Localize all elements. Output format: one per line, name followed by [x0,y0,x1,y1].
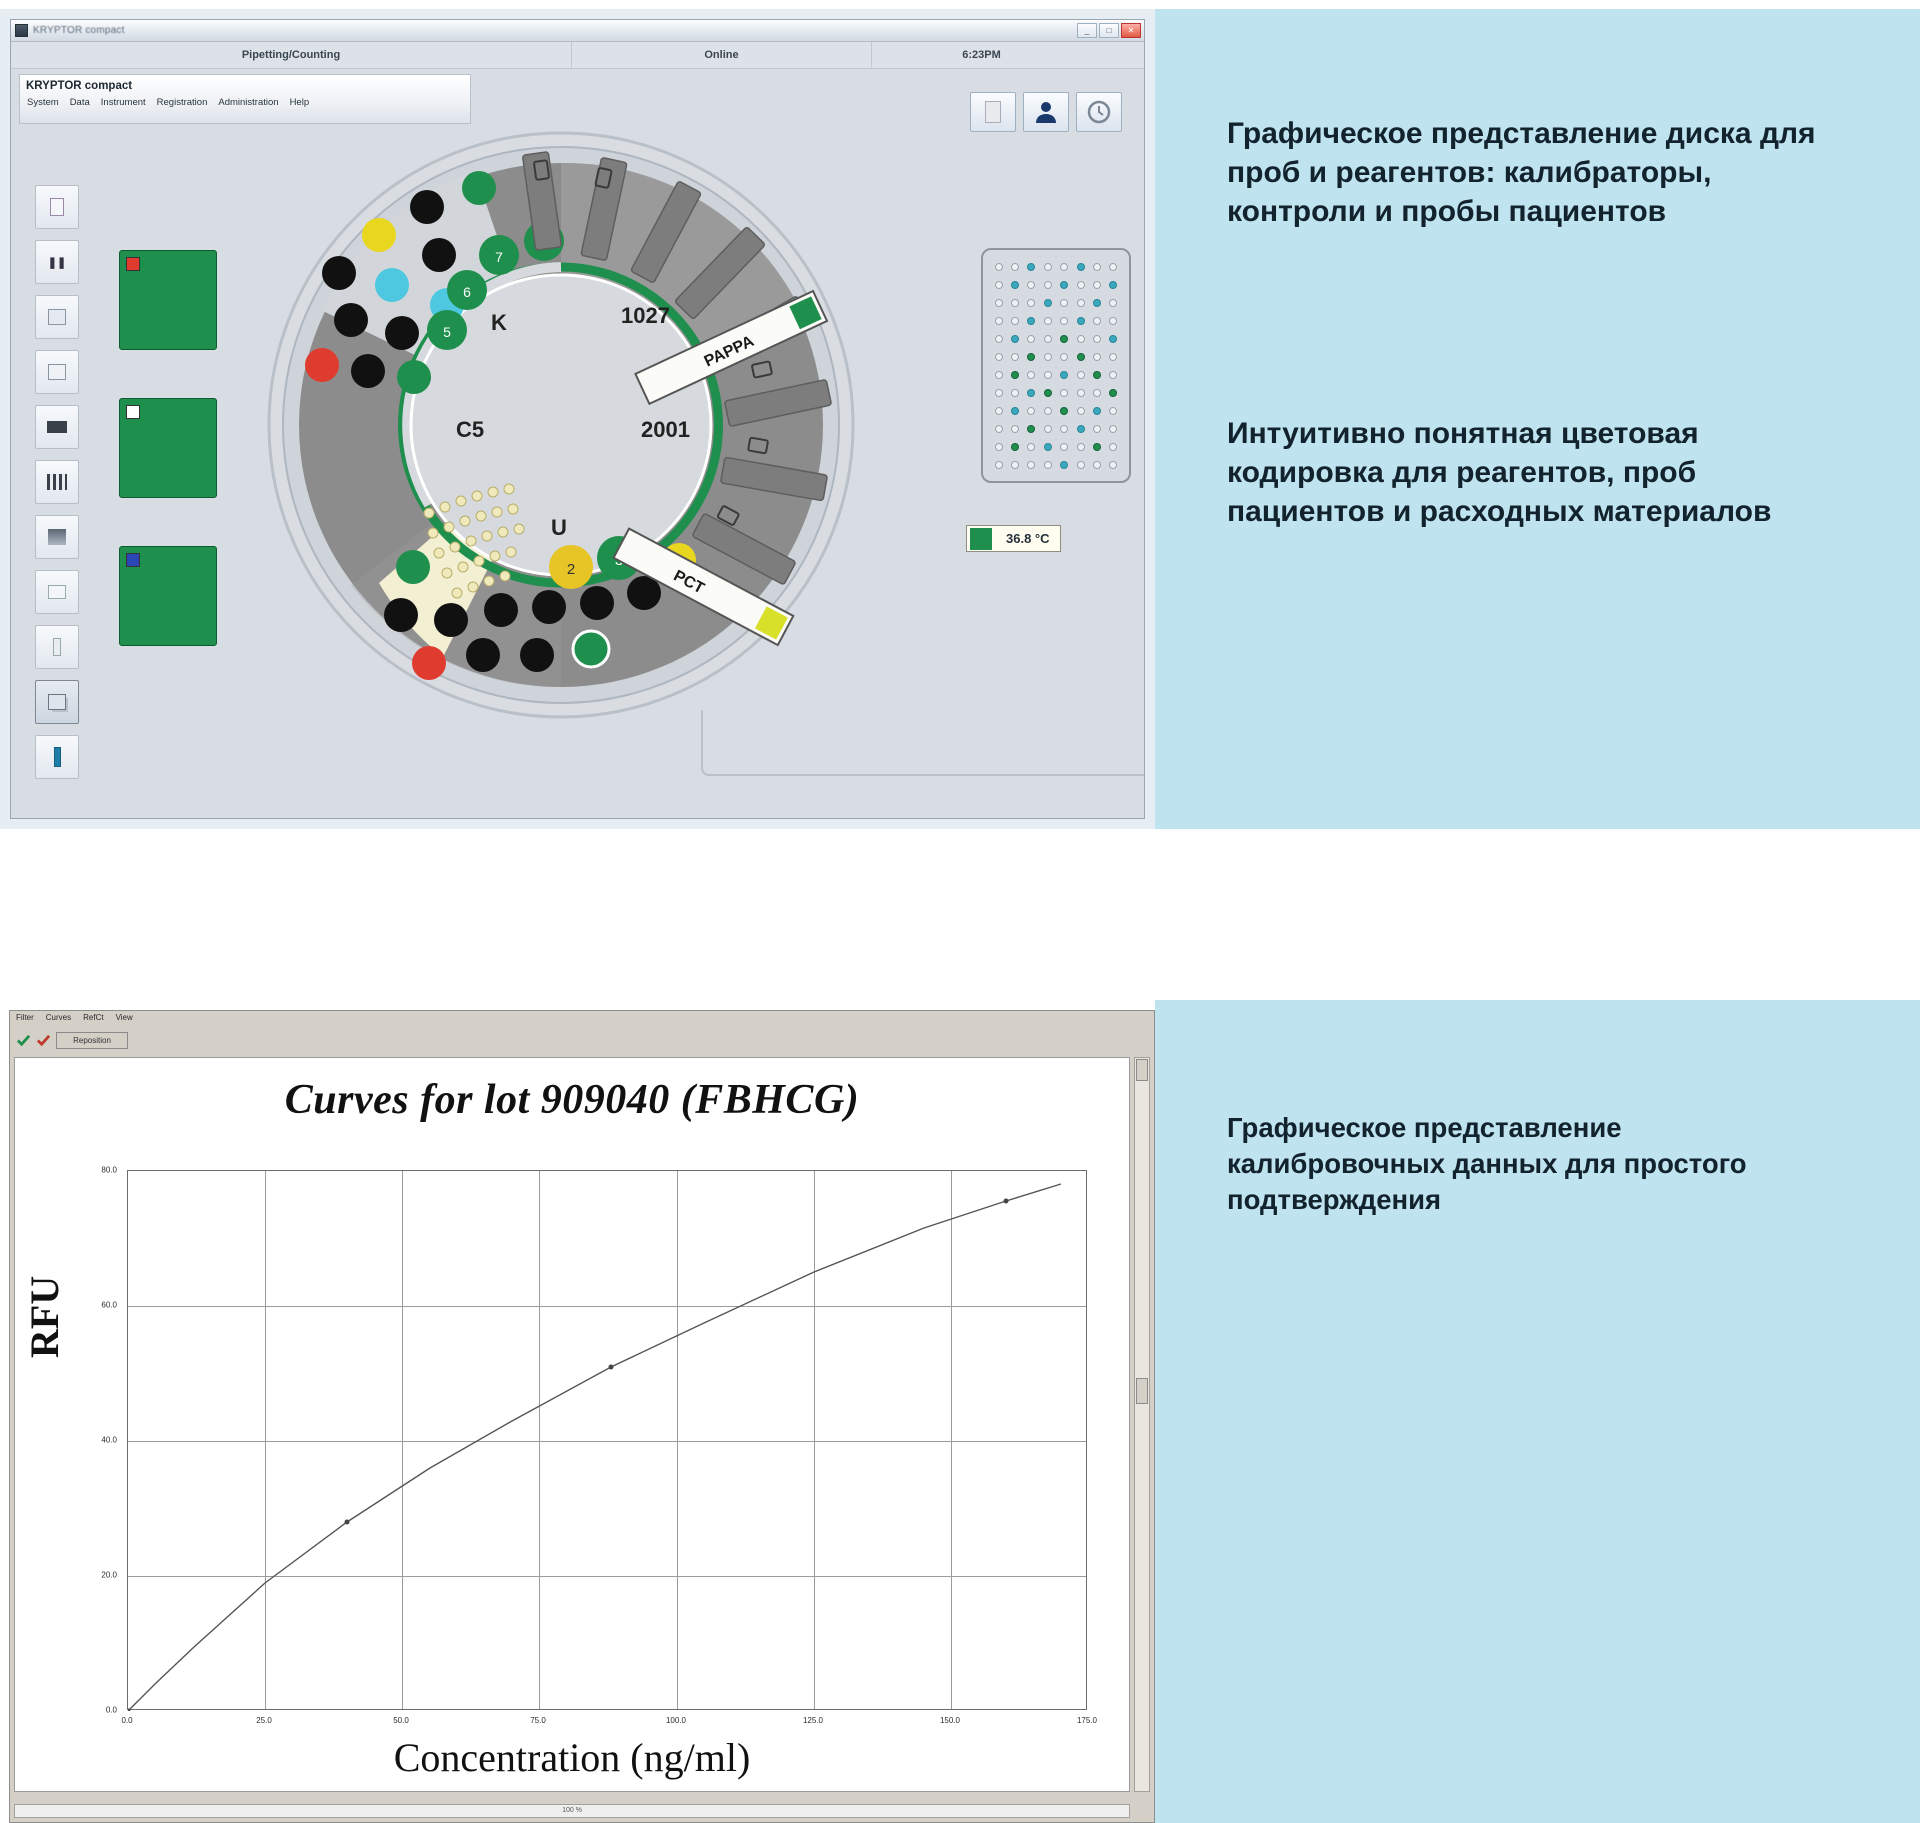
plate-well [1011,461,1019,469]
plate-well [1093,443,1101,451]
plate-well [995,281,1003,289]
caption-column-top: Графическое представление диска для проб… [1155,9,1920,829]
rail-button-reagent[interactable] [35,350,79,394]
menu-item-filter[interactable]: Filter [16,1013,34,1027]
plate-well [1027,371,1035,379]
menu-item-data[interactable]: Data [70,97,90,108]
microplate-rack[interactable] [981,248,1131,483]
menu-item-view[interactable]: View [116,1013,133,1027]
plate-well [1044,281,1052,289]
sample-well[interactable] [385,316,419,350]
rail-button-card[interactable] [35,570,79,614]
plate-well [1011,353,1019,361]
rack-icon [47,474,67,490]
plate-well [1011,407,1019,415]
plate-well [1093,263,1101,271]
caption-calibration-data: Графическое представление калибровочных … [1227,1110,1817,1217]
sample-well[interactable] [520,638,554,672]
menu-item-registration[interactable]: Registration [157,97,208,108]
plate-well [1093,281,1101,289]
rail-button-tube[interactable] [35,735,79,779]
plate-well [1060,299,1068,307]
status-indicator-white [126,405,140,419]
sample-well[interactable] [362,218,396,252]
xtick-7: 175.0 [1077,1716,1097,1725]
plate-well [1027,317,1035,325]
plate-well [1011,317,1019,325]
plate-well [995,335,1003,343]
minimize-button[interactable]: _ [1077,23,1097,38]
disc-label-1027: 1027 [621,303,670,328]
plate-well [1044,461,1052,469]
sample-well[interactable] [410,190,444,224]
check-red-icon[interactable] [36,1033,51,1048]
rail-button-document[interactable] [35,185,79,229]
plate-well [1109,443,1117,451]
ytick-1: 20.0 [81,1571,117,1580]
plate-well [1044,443,1052,451]
plate-well [1060,317,1068,325]
status-block-2[interactable] [119,398,217,498]
plot-area [127,1170,1087,1710]
plate-well [1109,407,1117,415]
plate-well [1044,263,1052,271]
maximize-button[interactable]: □ [1099,23,1119,38]
sample-reagent-disc[interactable]: K 1027 C5 2001 U [261,115,881,775]
plate-well [1093,299,1101,307]
horizontal-scrollbar[interactable]: 100 % [14,1804,1130,1818]
top-panel: KRYPTOR compact _ □ ✕ Pipetting/Counting… [0,9,1920,829]
plate-well [1077,407,1085,415]
cuvette-icon [48,529,66,545]
curves-window: Filter Curves RefCt View Reposition Curv… [9,1010,1155,1823]
sample-well[interactable] [305,348,339,382]
chart-title: Curves for lot 909040 (FBHCG) [15,1076,1129,1124]
status-bar: Pipetting/Counting Online 6:23PM [11,42,1144,69]
sample-well[interactable] [397,360,431,394]
disc-svg[interactable]: K 1027 C5 2001 U [261,115,881,775]
status-block-3[interactable] [119,546,217,646]
plate-well [995,461,1003,469]
clock-icon [1086,99,1112,125]
curves-toolbar[interactable]: Reposition [10,1027,1154,1053]
tip-icon [53,638,61,656]
plate-well [995,407,1003,415]
plate-well [1044,389,1052,397]
plate-well [1093,407,1101,415]
sample-well-active[interactable] [573,631,609,667]
plate-well [1011,281,1019,289]
sample-well[interactable] [351,354,385,388]
plate-well [1060,407,1068,415]
xtick-5: 125.0 [803,1716,823,1725]
sample-well[interactable] [466,638,500,672]
plate-well [1093,389,1101,397]
menu-item-refct[interactable]: RefCt [83,1013,103,1027]
menu-item-system[interactable]: System [27,97,59,108]
curve-marker [609,1365,614,1370]
disc-label-2001: 2001 [641,417,690,442]
xtick-6: 150.0 [940,1716,960,1725]
reagent-icon [48,364,66,380]
plate-well [995,443,1003,451]
plate-well [1044,371,1052,379]
plate-well [1044,425,1052,433]
stop-icon [985,101,1001,123]
sample-well[interactable] [375,268,409,302]
rail-button-rack[interactable] [35,460,79,504]
plate-well [1077,281,1085,289]
disc-tray-outline [701,710,1145,776]
plate-well [1077,461,1085,469]
layers-icon [48,694,66,710]
scrollbar-thumb[interactable] [1136,1378,1148,1404]
plate-well [1077,371,1085,379]
card-icon [48,585,66,599]
plate-well [1044,335,1052,343]
plate-well [1060,425,1068,433]
ytick-2: 40.0 [81,1436,117,1445]
xtick-1: 25.0 [256,1716,272,1725]
calibration-curve [128,1171,1088,1711]
plate-well [1011,263,1019,271]
plate-well [1093,317,1101,325]
sample-well[interactable] [532,590,566,624]
top-screenshot-area: KRYPTOR compact _ □ ✕ Pipetting/Counting… [0,9,1155,829]
ytick-4: 80.0 [81,1166,117,1175]
chart-ylabel: RFU [21,1276,68,1358]
menu-item-help[interactable]: Help [290,97,310,108]
plate-well [1109,371,1117,379]
caption-column-bottom: Графическое представление калибровочных … [1155,1000,1920,1823]
curve-marker [345,1520,350,1525]
chart-xlabel: Concentration (ng/ml) [15,1734,1129,1781]
status-block-1[interactable] [119,250,217,350]
plate-well [1109,317,1117,325]
xtick-2: 50.0 [393,1716,409,1725]
window-title: KRYPTOR compact [33,25,125,36]
plate-well [1027,335,1035,343]
sample-well[interactable] [462,171,496,205]
plate-well [1093,461,1101,469]
sample-well[interactable] [580,586,614,620]
xtick-3: 75.0 [530,1716,546,1725]
zoom-level-label: 100 % [562,1807,582,1814]
menu-item-curves[interactable]: Curves [46,1013,71,1027]
close-button[interactable]: ✕ [1121,23,1141,38]
plate-well [1044,407,1052,415]
plate-well [1060,281,1068,289]
plate-well [1093,353,1101,361]
caption-color-coding: Интуитивно понятная цветовая кодировка д… [1227,414,1847,531]
plate-well [995,389,1003,397]
rail-button-printer[interactable] [35,405,79,449]
document-icon [50,198,64,216]
xtick-4: 100.0 [666,1716,686,1725]
temperature-value: 36.8 °C [1006,531,1050,546]
sample-well[interactable] [322,256,356,290]
plate-well [1044,353,1052,361]
plate-well [1077,299,1085,307]
user-button[interactable] [1023,92,1069,132]
plate-well [1011,371,1019,379]
disc-label-c5: C5 [456,417,484,442]
clock-button[interactable] [1076,92,1122,132]
plate-well [1077,425,1085,433]
app-icon [15,24,28,37]
plate-well [1077,317,1085,325]
status-indicator-blue [126,553,140,567]
plate-well [1109,263,1117,271]
sample-well[interactable] [434,603,468,637]
plate-well [995,353,1003,361]
plate-well [1109,335,1117,343]
menu-item-instrument[interactable]: Instrument [101,97,146,108]
plate-well [1077,389,1085,397]
rail-button-stop[interactable]: ❚❚ [35,240,79,284]
window-titlebar: KRYPTOR compact _ □ ✕ [11,20,1144,42]
plate-well [1077,443,1085,451]
scrollbar-thumb-top[interactable] [1136,1059,1148,1081]
plate-well [1044,317,1052,325]
sample-well[interactable] [412,646,446,680]
curves-menu-bar[interactable]: Filter Curves RefCt View [10,1011,1154,1027]
plate-well [1077,353,1085,361]
plate-well [995,317,1003,325]
sample-well[interactable] [384,598,418,632]
window-controls[interactable]: _ □ ✕ [1077,23,1141,38]
numbered-well-label: 5 [443,324,451,340]
ytick-0: 0.0 [81,1706,117,1715]
plate-well [1060,263,1068,271]
plate-well [1027,461,1035,469]
plate-well [1060,335,1068,343]
status-process: Pipetting/Counting [11,42,571,68]
plate-well [1060,371,1068,379]
status-clock: 6:23PM [871,42,1091,68]
status-indicator-red [126,257,140,271]
xtick-0: 0.0 [121,1716,132,1725]
numbered-well-label: 6 [463,284,471,300]
ytick-3: 60.0 [81,1301,117,1310]
plate-well [995,263,1003,271]
menu-bar[interactable]: System Data Instrument Registration Admi… [20,92,470,108]
caption-disc-representation: Графическое представление диска для проб… [1227,114,1827,231]
plate-well [1011,299,1019,307]
disc-label-u: U [551,515,567,540]
curve-line [128,1184,1061,1711]
plate-well [1027,299,1035,307]
plate-well [1109,389,1117,397]
stop-icon: ❚❚ [48,256,66,269]
plate-well [1060,443,1068,451]
sample-icon [48,309,66,325]
numbered-well-label: 7 [495,249,503,265]
stop-button[interactable] [970,92,1016,132]
sample-well[interactable] [484,593,518,627]
plate-well [1109,281,1117,289]
curve-marker [1004,1199,1009,1204]
numbered-well-label: 2 [567,561,575,578]
plate-well [1027,281,1035,289]
plate-well [1011,443,1019,451]
plate-well [1011,335,1019,343]
kryptor-app-window: KRYPTOR compact _ □ ✕ Pipetting/Counting… [10,19,1145,819]
plate-well [1109,425,1117,433]
rail-button-sample[interactable] [35,295,79,339]
plate-well [1093,335,1101,343]
plate-well [1077,335,1085,343]
plate-well [1109,461,1117,469]
plate-well [1044,299,1052,307]
disc-label-k: K [491,310,507,335]
temperature-badge: 36.8 °C [966,525,1061,552]
header-toolbar[interactable] [970,92,1122,132]
left-toolbar[interactable]: ❚❚ [35,185,81,790]
plate-well [1027,407,1035,415]
plate-well [1027,425,1035,433]
application-title: KRYPTOR compact [20,75,470,92]
plate-well [1060,353,1068,361]
plate-well [1027,353,1035,361]
microplate-wells [991,258,1121,473]
rail-button-cuvette[interactable] [35,515,79,559]
plate-well [995,371,1003,379]
printer-icon [47,421,67,433]
menu-item-administration[interactable]: Administration [218,97,278,108]
check-green-icon[interactable] [16,1033,31,1048]
user-icon [1033,99,1059,125]
plate-well [1011,389,1019,397]
chart-canvas: Curves for lot 909040 (FBHCG) RFU [14,1057,1130,1792]
temperature-swatch [970,528,992,550]
rail-button-layers[interactable] [35,680,79,724]
plate-well [1027,389,1035,397]
tube-icon [54,747,61,767]
plate-well [1027,443,1035,451]
plate-well [1077,263,1085,271]
rail-button-tip[interactable] [35,625,79,669]
sample-well[interactable] [334,303,368,337]
plate-well [995,299,1003,307]
plate-well [1093,371,1101,379]
sample-well[interactable] [422,238,456,272]
plate-well [1027,263,1035,271]
plate-well [1011,425,1019,433]
plate-well [1109,299,1117,307]
sample-well[interactable] [396,550,430,584]
plate-well [1109,353,1117,361]
status-connection: Online [571,42,871,68]
plate-well [995,425,1003,433]
reposition-button[interactable]: Reposition [56,1032,128,1049]
plate-well [1060,389,1068,397]
plate-well [1093,425,1101,433]
vertical-scrollbar[interactable] [1134,1057,1150,1792]
plate-well [1060,461,1068,469]
